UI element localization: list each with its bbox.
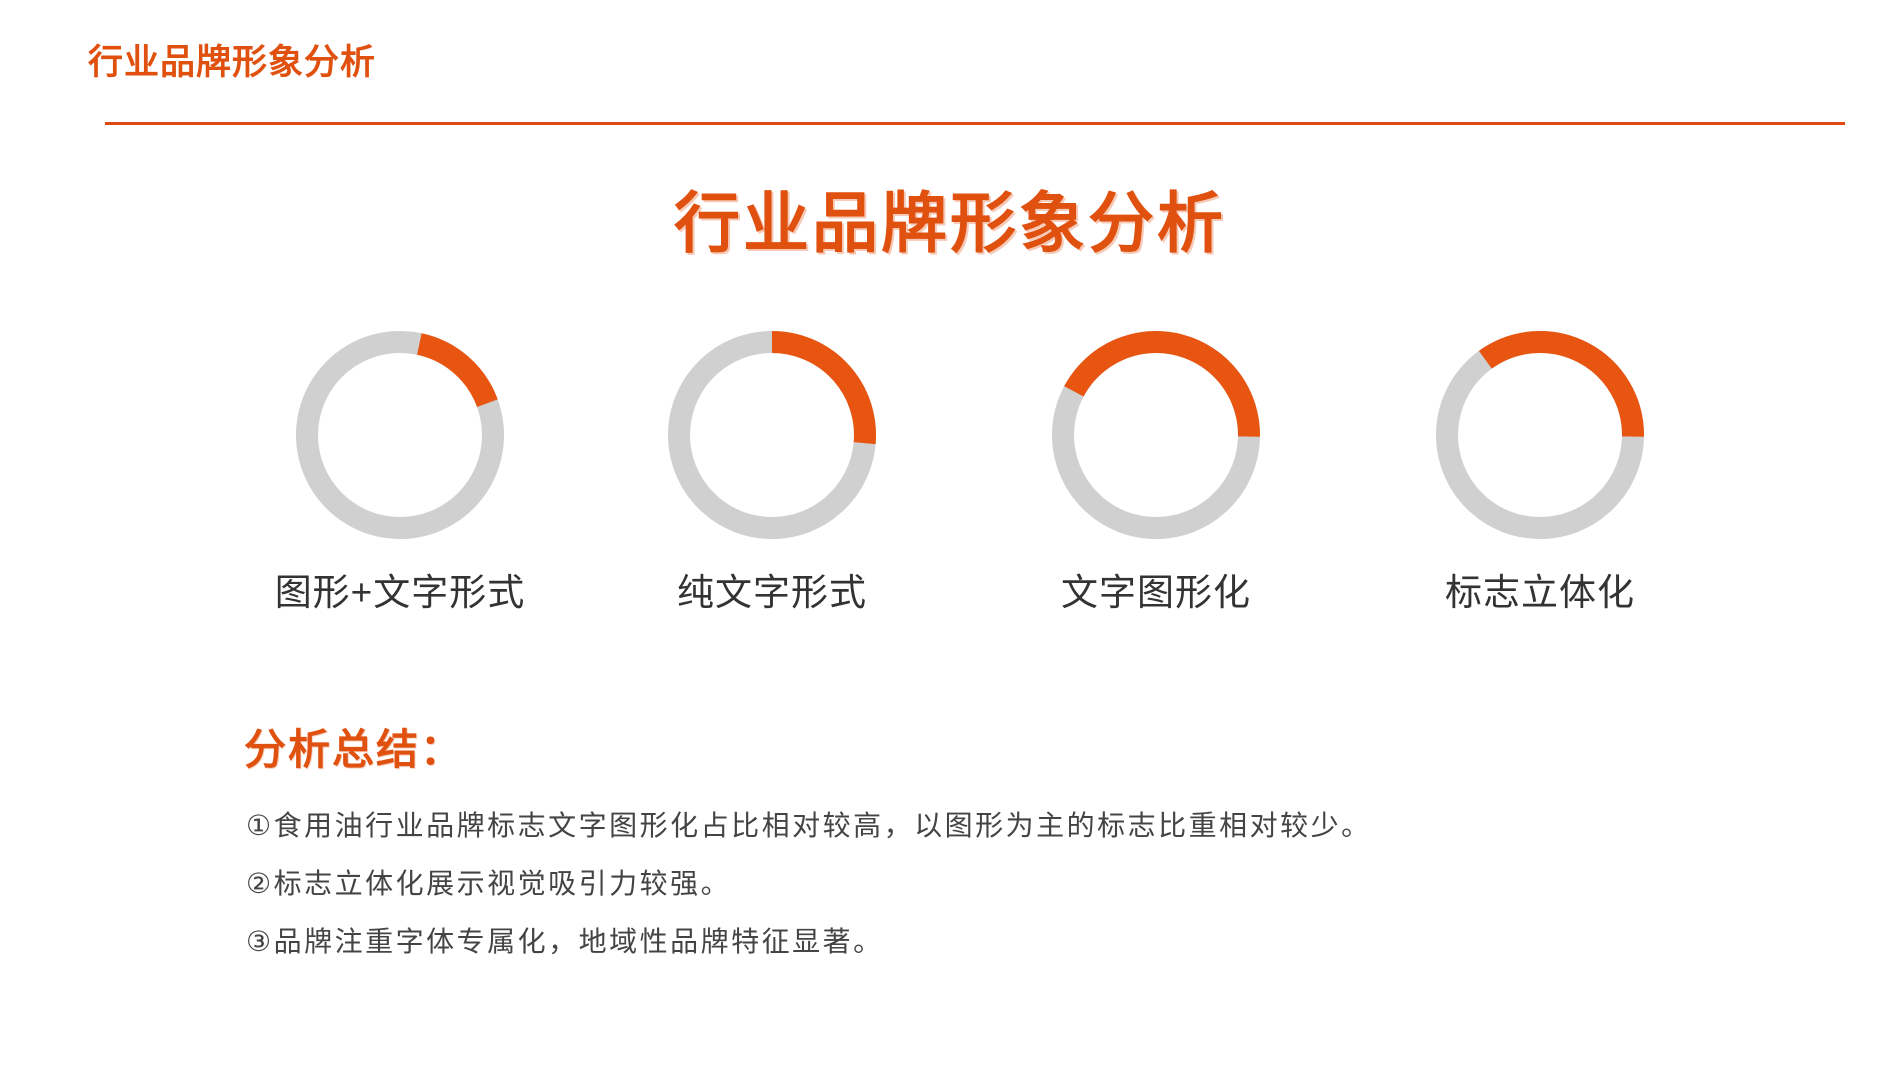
summary-heading: 分析总结： — [244, 716, 464, 777]
summary-list: ①食用油行业品牌标志文字图形化占比相对较高，以图形为主的标志比重相对较少。 ②标… — [246, 812, 1746, 986]
donut-chart-item: 文字图形化 — [986, 330, 1326, 616]
donut-chart-item: 图形+文字形式 — [230, 330, 570, 616]
donut-chart-3 — [1435, 330, 1645, 540]
donut-label-1: 纯文字形式 — [677, 562, 867, 616]
donut-label-2: 文字图形化 — [1061, 562, 1251, 616]
donut-chart-0 — [295, 330, 505, 540]
donut-chart-item: 标志立体化 — [1370, 330, 1710, 616]
donut-chart-row: 图形+文字形式 纯文字形式 文字图形化 标志立体化 — [230, 330, 1710, 630]
header-title: 行业品牌形象分析 — [88, 42, 376, 84]
donut-chart-item: 纯文字形式 — [602, 330, 942, 616]
slide-canvas: 行业品牌形象分析 行业品牌形象分析 图形+文字形式 纯文字形式 文字图形化 — [0, 0, 1900, 1069]
donut-chart-2 — [1051, 330, 1261, 540]
donut-label-3: 标志立体化 — [1445, 562, 1635, 616]
summary-line: ③品牌注重字体专属化，地域性品牌特征显著。 — [246, 928, 1746, 956]
header-divider — [105, 122, 1845, 125]
page-title: 行业品牌形象分析 — [0, 186, 1900, 262]
summary-line: ②标志立体化展示视觉吸引力较强。 — [246, 870, 1746, 898]
donut-chart-1 — [667, 330, 877, 540]
donut-label-0: 图形+文字形式 — [275, 562, 526, 616]
summary-line: ①食用油行业品牌标志文字图形化占比相对较高，以图形为主的标志比重相对较少。 — [246, 812, 1746, 840]
